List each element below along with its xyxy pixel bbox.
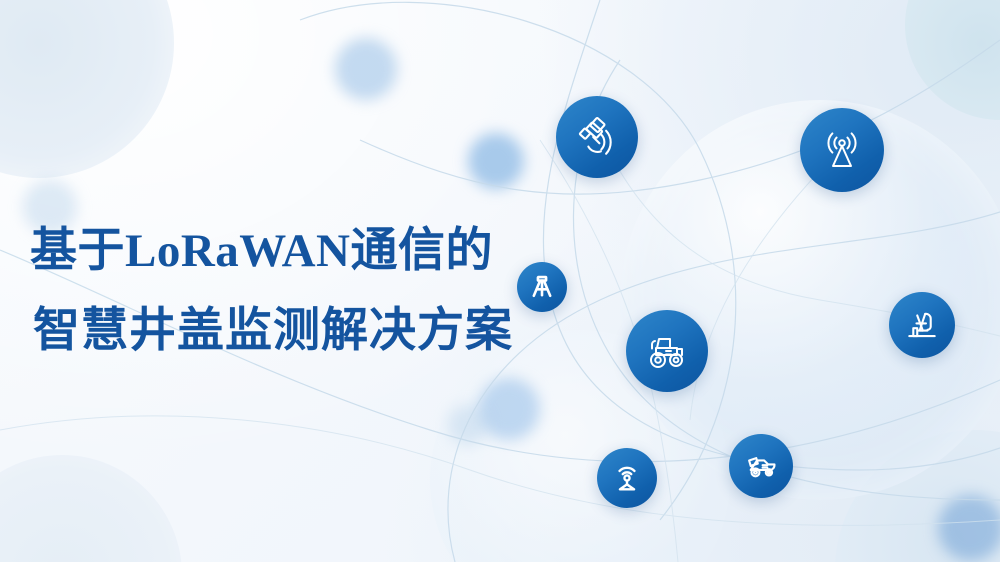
harvester-glyph [742, 447, 780, 485]
slide-title-line-1: 基于LoRaWAN通信的 [30, 228, 590, 275]
tractor-glyph [643, 327, 691, 375]
oil-pumpjack-icon[interactable] [889, 292, 955, 358]
oil-pumpjack-glyph [903, 306, 941, 344]
title-block: 基于LoRaWAN通信的 智慧井盖监测解决方案 [30, 228, 590, 355]
satellite-signal-glyph [574, 114, 620, 160]
radio-tower-icon[interactable] [800, 108, 884, 192]
tractor-icon[interactable] [626, 310, 708, 392]
slide-canvas: 基于LoRaWAN通信的 智慧井盖监测解决方案 [0, 0, 1000, 562]
sensor-beacon-glyph [610, 461, 644, 495]
harvester-icon[interactable] [729, 434, 793, 498]
radio-tower-glyph [818, 126, 866, 174]
sensor-beacon-icon[interactable] [597, 448, 657, 508]
satellite-signal-icon[interactable] [556, 96, 638, 178]
slide-title-line-2: 智慧井盖监测解决方案 [30, 308, 590, 355]
